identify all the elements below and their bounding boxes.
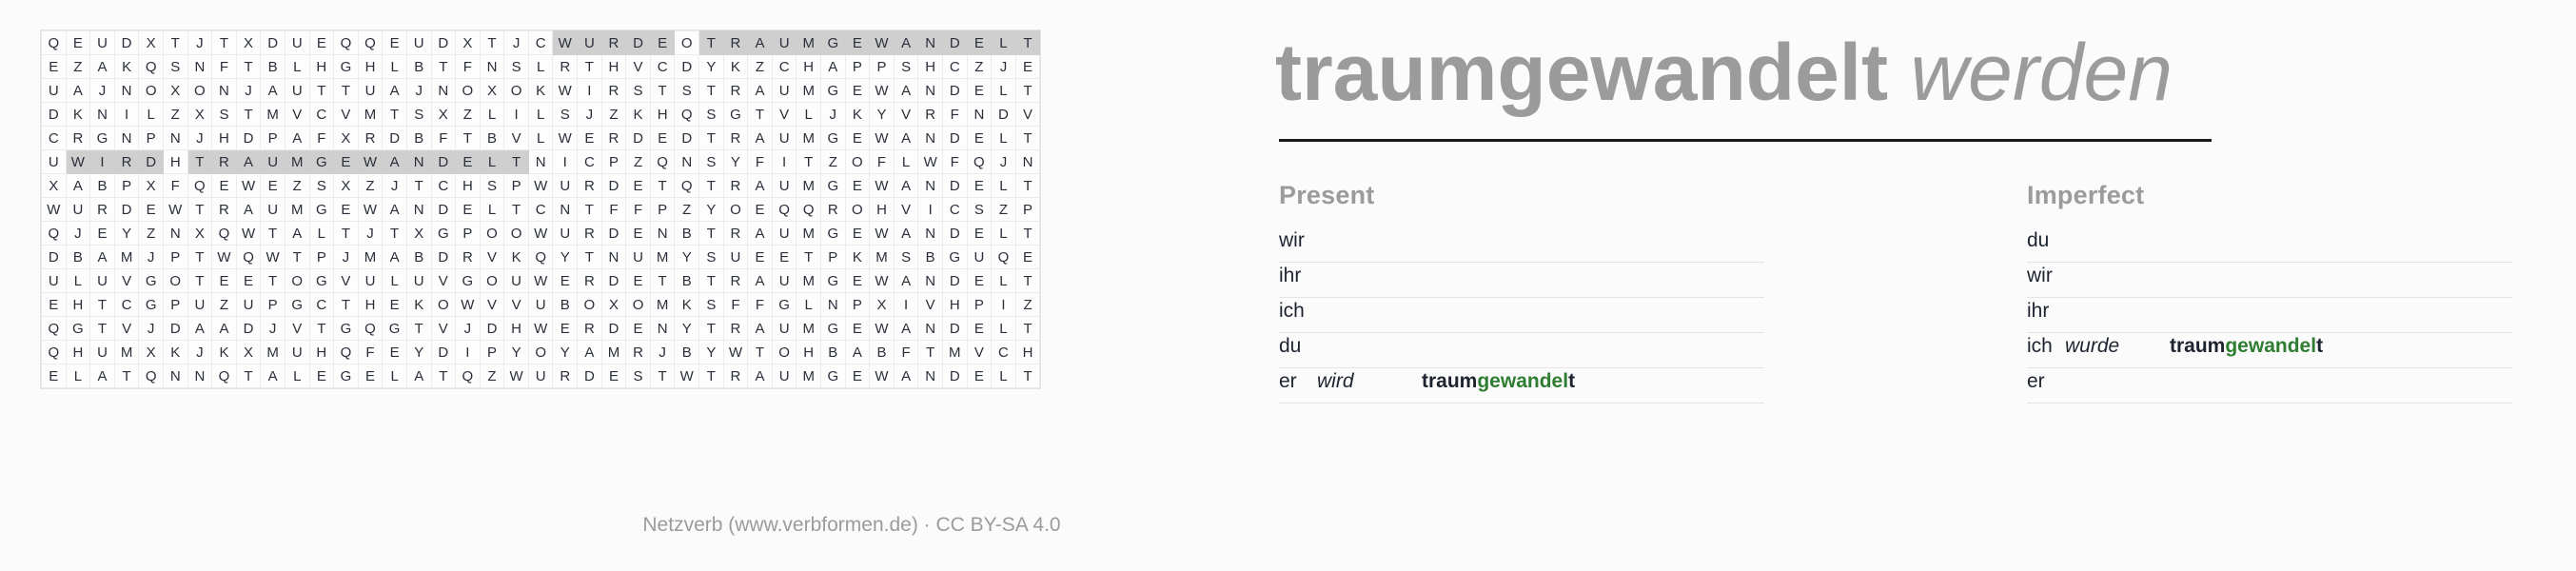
word-search-cell: H	[796, 341, 821, 364]
word-search-cell: E	[42, 293, 67, 317]
word-search-cell: Z	[480, 364, 504, 388]
word-search-cell: L	[383, 269, 407, 293]
word-search-cell: T	[1015, 364, 1040, 388]
word-search-cell: G	[309, 198, 334, 222]
word-search-cell: A	[894, 174, 918, 198]
word-search-cell: R	[723, 222, 748, 246]
word-search-cell: D	[42, 246, 67, 269]
word-search-cell: Q	[212, 364, 237, 388]
word-search-cell: L	[139, 103, 164, 127]
word-search-cell: T	[699, 79, 724, 103]
word-search-cell: N	[163, 364, 187, 388]
word-search-cell: D	[431, 31, 456, 55]
word-search-cell: U	[406, 269, 431, 293]
imperfect-pronoun: ich	[2027, 335, 2065, 358]
word-search-cell: X	[139, 31, 164, 55]
present-pronoun: er	[1279, 370, 1317, 393]
imperfect-pronoun: ihr	[2027, 300, 2065, 323]
word-search-cell: V	[334, 103, 359, 127]
word-search-cell: Z	[1015, 293, 1040, 317]
word-search-cell: C	[309, 103, 334, 127]
word-search-cell: J	[578, 103, 602, 127]
imperfect-row: er	[2027, 368, 2512, 404]
imperfect-row: wir	[2027, 263, 2512, 298]
word-search-cell: W	[528, 222, 553, 246]
word-search-cell: N	[431, 79, 456, 103]
word-search-cell: M	[650, 246, 675, 269]
word-search-cell: M	[942, 341, 967, 364]
word-search-cell: S	[480, 174, 504, 198]
word-search-cell: R	[212, 198, 237, 222]
word-search-cell: P	[845, 55, 870, 79]
word-search-cell: T	[236, 103, 261, 127]
present-row: du	[1279, 333, 1764, 368]
word-search-cell: E	[553, 269, 578, 293]
word-search-cell: B	[821, 341, 846, 364]
word-search-cell: W	[504, 364, 529, 388]
word-search-cell: L	[383, 55, 407, 79]
word-search-cell: W	[553, 79, 578, 103]
word-search-cell: O	[480, 269, 504, 293]
word-search-cell: A	[383, 246, 407, 269]
word-search-cell: I	[918, 198, 943, 222]
word-search-cell: M	[870, 246, 895, 269]
word-search-cell-highlighted: R	[601, 31, 626, 55]
word-search-cell: T	[456, 127, 481, 150]
word-search-cell: G	[723, 103, 748, 127]
word-search-cell: N	[918, 174, 943, 198]
word-search-cell: V	[431, 317, 456, 341]
word-search-cell: H	[650, 103, 675, 127]
word-search-cell: U	[285, 31, 309, 55]
word-search-cell: N	[114, 127, 139, 150]
word-search-cell: Q	[992, 246, 1016, 269]
word-search-cell: R	[601, 127, 626, 150]
word-search-cell: V	[334, 269, 359, 293]
word-search-cell-highlighted: A	[894, 31, 918, 55]
word-search-cell: L	[480, 103, 504, 127]
word-search-cell: E	[1015, 55, 1040, 79]
word-search-cell: L	[796, 103, 821, 127]
word-search-cell: F	[163, 174, 187, 198]
word-search-cell: E	[578, 127, 602, 150]
word-search-cell: M	[601, 341, 626, 364]
title-divider	[1279, 139, 2212, 142]
word-search-cell: G	[139, 269, 164, 293]
word-search-cell: E	[845, 269, 870, 293]
word-search-cell: T	[236, 364, 261, 388]
word-search-cell: E	[42, 364, 67, 388]
word-search-cell-highlighted: A	[748, 31, 773, 55]
word-search-cell: V	[480, 246, 504, 269]
word-search-cell: T	[699, 317, 724, 341]
word-search-cell: R	[723, 364, 748, 388]
word-search-cell: T	[480, 31, 504, 55]
word-search-cell: K	[114, 55, 139, 79]
word-search-cell: U	[553, 174, 578, 198]
word-search-cell: S	[212, 103, 237, 127]
word-search-cell: Q	[212, 222, 237, 246]
word-search-cell: U	[90, 269, 115, 293]
word-search-cell: S	[406, 103, 431, 127]
word-search-cell: L	[66, 269, 90, 293]
word-search-cell: P	[114, 174, 139, 198]
word-search-cell: R	[723, 317, 748, 341]
word-search-cell: B	[90, 174, 115, 198]
word-search-cell: W	[212, 246, 237, 269]
word-search-cell: L	[992, 364, 1016, 388]
word-search-cell: S	[309, 174, 334, 198]
word-search-cell: T	[163, 31, 187, 55]
word-search-cell: Q	[796, 198, 821, 222]
word-search-cell: K	[212, 341, 237, 364]
word-search-cell: P	[480, 341, 504, 364]
word-search-cell: Z	[748, 55, 773, 79]
word-search-cell: P	[163, 246, 187, 269]
word-search-cell: Q	[42, 317, 67, 341]
word-search-cell-highlighted: R	[114, 150, 139, 174]
word-search-cell: E	[553, 317, 578, 341]
imperfect-row: du	[2027, 227, 2512, 263]
word-search-cell: M	[114, 246, 139, 269]
word-search-cell: W	[675, 364, 699, 388]
word-search-cell: E	[626, 174, 651, 198]
word-search-cell: X	[431, 103, 456, 127]
present-row: ihr	[1279, 263, 1764, 298]
word-search-cell: C	[992, 341, 1016, 364]
word-search-cell: T	[261, 222, 285, 246]
word-search-cell: F	[431, 127, 456, 150]
word-search-cell: Z	[626, 150, 651, 174]
word-search-cell: D	[601, 269, 626, 293]
word-search-cell: X	[456, 31, 481, 55]
word-search-cell: O	[528, 341, 553, 364]
word-search-cell: R	[821, 198, 846, 222]
word-search-cell: B	[918, 246, 943, 269]
word-search-cell: L	[992, 222, 1016, 246]
word-search-cell: D	[942, 364, 967, 388]
word-search-cell: T	[236, 55, 261, 79]
word-search-cell: A	[894, 222, 918, 246]
word-search-cell: E	[383, 31, 407, 55]
word-search-cell: N	[187, 364, 212, 388]
word-search-cell: T	[918, 341, 943, 364]
word-search-row: DKNILZXSTMVCVMTSXZLILSJZKHQSGTVLJKYVRFND…	[42, 103, 1040, 127]
imperfect-pronoun: wir	[2027, 265, 2065, 287]
word-search-cell: T	[114, 364, 139, 388]
word-search-cell: D	[942, 317, 967, 341]
word-search-cell: U	[772, 364, 796, 388]
word-search-cell: M	[796, 174, 821, 198]
word-search-cell: X	[163, 79, 187, 103]
word-search-cell: E	[1015, 246, 1040, 269]
word-search-cell: F	[894, 341, 918, 364]
page-root: QEUDXTJTXDUEQQEUDXTJCWURDEOTRAUMGEWANDEL…	[0, 0, 2576, 571]
word-search-cell: Z	[601, 103, 626, 127]
word-search-cell-highlighted: L	[992, 31, 1016, 55]
word-search-cell: T	[1015, 317, 1040, 341]
word-search-cell: P	[139, 127, 164, 150]
word-search-cell: Y	[504, 341, 529, 364]
word-search-cell: X	[42, 174, 67, 198]
word-search-cell: B	[406, 55, 431, 79]
word-search-cell: D	[578, 364, 602, 388]
word-search-row: UWIRDHTRAUMGEWANDELTNICPZQNSYFITZOFLWFQJ…	[42, 150, 1040, 174]
word-search-cell: M	[285, 198, 309, 222]
word-search-cell: G	[431, 222, 456, 246]
word-search-cell: D	[942, 222, 967, 246]
word-search-cell: T	[187, 198, 212, 222]
word-search-cell: A	[894, 269, 918, 293]
word-search-cell: Q	[42, 222, 67, 246]
word-search-cell: D	[236, 127, 261, 150]
word-search-cell: B	[870, 341, 895, 364]
word-search-cell: Y	[406, 341, 431, 364]
word-search-cell: A	[90, 55, 115, 79]
word-search-cell: S	[894, 55, 918, 79]
word-search-cell: F	[942, 103, 967, 127]
word-search-cell: O	[845, 198, 870, 222]
word-search-cell: U	[772, 79, 796, 103]
word-search-cell: U	[772, 269, 796, 293]
word-search-cell: Q	[42, 341, 67, 364]
word-search-cell: E	[456, 198, 481, 222]
word-search-cell: M	[114, 341, 139, 364]
word-search-cell-highlighted: M	[796, 31, 821, 55]
page-title: traumgewandelt werden	[1275, 32, 2173, 112]
word-search-cell: E	[845, 364, 870, 388]
word-search-cell: D	[42, 103, 67, 127]
imperfect-tense-column: Imperfect duwirihrichwurdetraumgewandelt…	[2027, 181, 2512, 404]
word-search-cell: I	[894, 293, 918, 317]
word-search-cell: J	[66, 222, 90, 246]
word-search-row: QJEYZNXQWTALTJTXGPOOWURDENBTRAUMGEWANDEL…	[42, 222, 1040, 246]
word-search-cell-highlighted: E	[967, 31, 992, 55]
word-search-cell: X	[139, 341, 164, 364]
word-search-cell: A	[285, 127, 309, 150]
word-search-cell: E	[845, 174, 870, 198]
word-search-cell: L	[528, 55, 553, 79]
word-search-cell-highlighted: D	[431, 150, 456, 174]
word-search-cell: N	[187, 55, 212, 79]
word-search-cell: T	[406, 174, 431, 198]
word-search-cell: N	[675, 150, 699, 174]
word-search-cell: N	[918, 127, 943, 150]
word-search-cell: D	[114, 198, 139, 222]
word-search-cell: T	[383, 222, 407, 246]
word-search-cell: L	[383, 364, 407, 388]
word-search-cell: J	[187, 31, 212, 55]
word-search-cell: A	[748, 364, 773, 388]
word-search-cell: I	[553, 150, 578, 174]
word-search-cell: J	[650, 341, 675, 364]
word-search-cell: J	[992, 150, 1016, 174]
word-search-cell: H	[918, 55, 943, 79]
word-search-cell: H	[601, 55, 626, 79]
word-search-cell: G	[821, 79, 846, 103]
word-search-cell: V	[480, 293, 504, 317]
word-search-cell: F	[942, 150, 967, 174]
word-search-cell: T	[699, 364, 724, 388]
present-row: ich	[1279, 298, 1764, 333]
word-search-cell: J	[139, 246, 164, 269]
word-search-cell: T	[1015, 222, 1040, 246]
word-search-cell: E	[626, 317, 651, 341]
word-search-cell: M	[261, 103, 285, 127]
word-search-cell: A	[894, 79, 918, 103]
word-search-cell: E	[967, 317, 992, 341]
word-search-cell: P	[967, 293, 992, 317]
word-search-cell: D	[431, 246, 456, 269]
word-search-cell: K	[66, 103, 90, 127]
word-search-cell: Z	[212, 293, 237, 317]
word-search-cell: P	[870, 55, 895, 79]
word-search-cell: J	[406, 79, 431, 103]
word-search-cell: I	[772, 150, 796, 174]
word-search-cell: Q	[772, 198, 796, 222]
word-search-cell: L	[894, 150, 918, 174]
word-search-cell: P	[504, 174, 529, 198]
word-search-cell: T	[90, 317, 115, 341]
word-search-cell: G	[821, 269, 846, 293]
word-search-cell: J	[90, 79, 115, 103]
word-search-cell: S	[699, 103, 724, 127]
word-search-cell: E	[845, 222, 870, 246]
word-search-cell: V	[1015, 103, 1040, 127]
present-pronoun: du	[1279, 335, 1317, 358]
word-search-cell: R	[456, 246, 481, 269]
word-search-cell-highlighted: E	[456, 150, 481, 174]
word-search-cell: U	[504, 269, 529, 293]
word-search-cell: I	[578, 79, 602, 103]
word-search-cell: R	[66, 127, 90, 150]
word-search-cell: B	[66, 246, 90, 269]
word-search-cell: E	[845, 79, 870, 103]
word-search-cell: Q	[967, 150, 992, 174]
word-search-cell: Q	[139, 364, 164, 388]
word-search-cell: R	[723, 79, 748, 103]
word-search-cell: M	[796, 269, 821, 293]
word-search-cell: B	[553, 293, 578, 317]
word-search-cell: W	[163, 198, 187, 222]
word-search-cell-highlighted: R	[723, 31, 748, 55]
word-search-cell: V	[504, 293, 529, 317]
word-search-cell: W	[870, 269, 895, 293]
word-search-cell: S	[894, 246, 918, 269]
word-search-cell: M	[261, 341, 285, 364]
imperfect-row: ichwurdetraumgewandelt	[2027, 333, 2512, 368]
word-search-cell: S	[675, 79, 699, 103]
word-search-cell: Q	[139, 55, 164, 79]
word-search-cell: H	[212, 127, 237, 150]
word-search-cell: F	[212, 55, 237, 79]
word-search-cell: G	[334, 55, 359, 79]
word-search-cell: N	[163, 127, 187, 150]
word-search-cell: W	[870, 364, 895, 388]
word-search-cell: O	[626, 293, 651, 317]
word-search-cell: A	[66, 174, 90, 198]
word-search-cell: R	[723, 174, 748, 198]
word-search-cell: K	[504, 246, 529, 269]
word-search-cell: N	[1015, 150, 1040, 174]
present-tense-column: Present wirihrichduerwirdtraumgewandelt	[1279, 181, 1764, 404]
word-search-cell: H	[456, 174, 481, 198]
word-search-cell: T	[748, 341, 773, 364]
present-pronoun: wir	[1279, 229, 1317, 252]
word-search-cell: Q	[42, 31, 67, 55]
word-search-row: QGTVJDAADJVTGQGTVJDHWERDENYTRAUMGEWANDEL…	[42, 317, 1040, 341]
present-pronoun: ihr	[1279, 265, 1317, 287]
word-search-grid: QEUDXTJTXDUEQQEUDXTJCWURDEOTRAUMGEWANDEL…	[41, 30, 1040, 388]
word-search-cell: D	[942, 174, 967, 198]
word-search-cell: M	[650, 293, 675, 317]
word-search-cell: Y	[553, 341, 578, 364]
word-search-cell: H	[1015, 341, 1040, 364]
word-search-cell: M	[358, 103, 383, 127]
word-search-cell: F	[309, 127, 334, 150]
word-search-cell: T	[334, 293, 359, 317]
word-search-cell: A	[261, 79, 285, 103]
present-tense-heading: Present	[1279, 181, 1764, 210]
word-search-cell: W	[261, 246, 285, 269]
word-search-cell-highlighted: W	[66, 150, 90, 174]
word-search-cell: N	[650, 222, 675, 246]
word-search-cell: N	[918, 317, 943, 341]
word-search-cell: N	[821, 293, 846, 317]
word-search-cell: X	[601, 293, 626, 317]
word-search-cell: A	[90, 246, 115, 269]
word-search-cell: W	[870, 222, 895, 246]
present-pronoun: ich	[1279, 300, 1317, 323]
word-search-cell: N	[918, 222, 943, 246]
word-search-cell: O	[675, 31, 699, 55]
word-search-cell: U	[66, 198, 90, 222]
word-search-cell: Q	[334, 341, 359, 364]
word-search-row: EHTCGPUZUPGCTHEKOWVVUBOXOMKSFFGLNPXIVHPI…	[42, 293, 1040, 317]
word-search-cell-highlighted: L	[480, 150, 504, 174]
word-search-cell: E	[845, 317, 870, 341]
word-search-cell: T	[187, 269, 212, 293]
word-search-cell: E	[212, 269, 237, 293]
word-search-cell: T	[650, 174, 675, 198]
word-search-cell: Z	[675, 198, 699, 222]
word-search-cell: C	[528, 31, 553, 55]
word-search-cell: G	[942, 246, 967, 269]
word-search-cell: E	[967, 222, 992, 246]
word-search-cell: R	[358, 127, 383, 150]
word-search-cell: W	[236, 222, 261, 246]
word-search-cell: W	[42, 198, 67, 222]
word-search-cell: A	[212, 317, 237, 341]
word-search-cell: H	[66, 293, 90, 317]
word-search-cell: D	[261, 31, 285, 55]
word-search-cell: E	[967, 269, 992, 293]
word-search-cell: U	[42, 79, 67, 103]
word-search-cell-highlighted: T	[699, 31, 724, 55]
word-search-cell: K	[626, 103, 651, 127]
word-search-cell: C	[578, 150, 602, 174]
present-row: wir	[1279, 227, 1764, 263]
word-search-cell: F	[870, 150, 895, 174]
word-search-cell: U	[626, 246, 651, 269]
word-search-cell: J	[187, 341, 212, 364]
word-search-cell: X	[334, 174, 359, 198]
word-search-cell: A	[90, 364, 115, 388]
word-search-cell: T	[578, 55, 602, 79]
word-search-cell: N	[967, 103, 992, 127]
word-search-cell: N	[918, 79, 943, 103]
word-search-row: WURDEWTRAUMGEWANDELTCNTFFPZYOEQQROHVICSZ…	[42, 198, 1040, 222]
